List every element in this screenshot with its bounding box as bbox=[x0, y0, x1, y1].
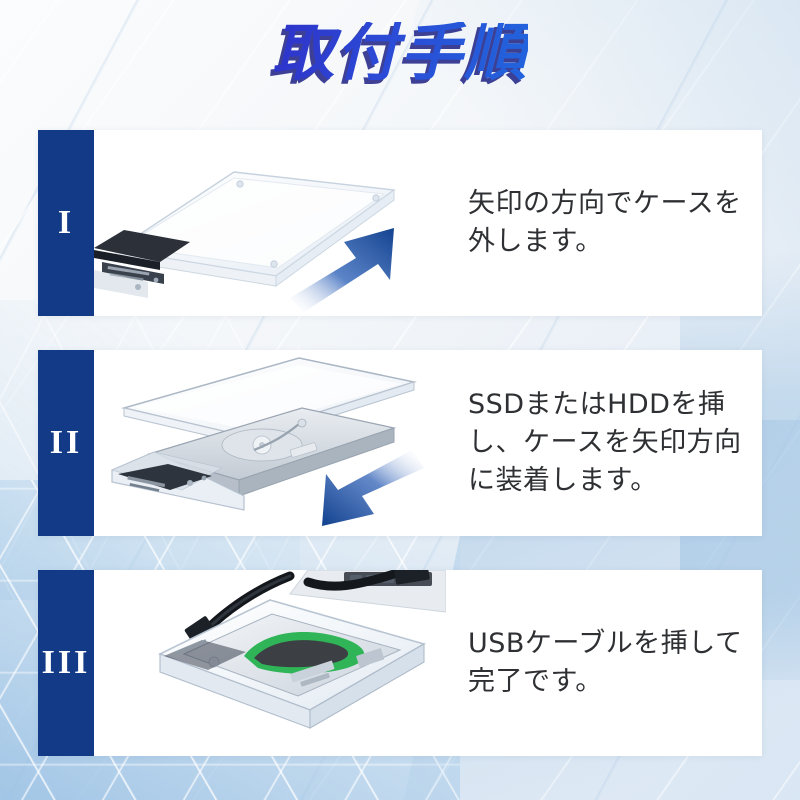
step-description-2: SSDまたはHDDを挿し、ケースを矢印方向に装着します。 bbox=[468, 386, 752, 501]
step-text-1: 矢印の方向でケースを外します。 bbox=[446, 130, 762, 316]
step-number-2: II bbox=[38, 350, 94, 536]
step-card-2: II bbox=[38, 350, 762, 536]
step-description-3: USBケーブルを挿して完了です。 bbox=[468, 625, 752, 702]
step-figure-1 bbox=[94, 130, 446, 316]
transparent-enclosure-open-illustration bbox=[94, 130, 446, 316]
installation-steps-page: 取付手順 I bbox=[0, 0, 800, 800]
step-number-1: I bbox=[38, 130, 94, 316]
enclosure-assembled-with-usb-cable-illustration bbox=[94, 570, 446, 756]
step-figure-3 bbox=[94, 570, 446, 756]
step-description-1: 矢印の方向でケースを外します。 bbox=[468, 185, 752, 262]
step-number-3: III bbox=[38, 570, 94, 756]
step-figure-2 bbox=[94, 350, 446, 536]
enclosure-exploded-with-hdd-illustration bbox=[94, 350, 446, 536]
step-text-2: SSDまたはHDDを挿し、ケースを矢印方向に装着します。 bbox=[446, 350, 762, 536]
step-card-1: I bbox=[38, 130, 762, 316]
step-card-3: III bbox=[38, 570, 762, 756]
page-title-wrapper: 取付手順 bbox=[0, 22, 800, 114]
page-title: 取付手順 bbox=[272, 22, 528, 84]
step-text-3: USBケーブルを挿して完了です。 bbox=[446, 570, 762, 756]
hdd-green-label-icon bbox=[160, 600, 424, 728]
